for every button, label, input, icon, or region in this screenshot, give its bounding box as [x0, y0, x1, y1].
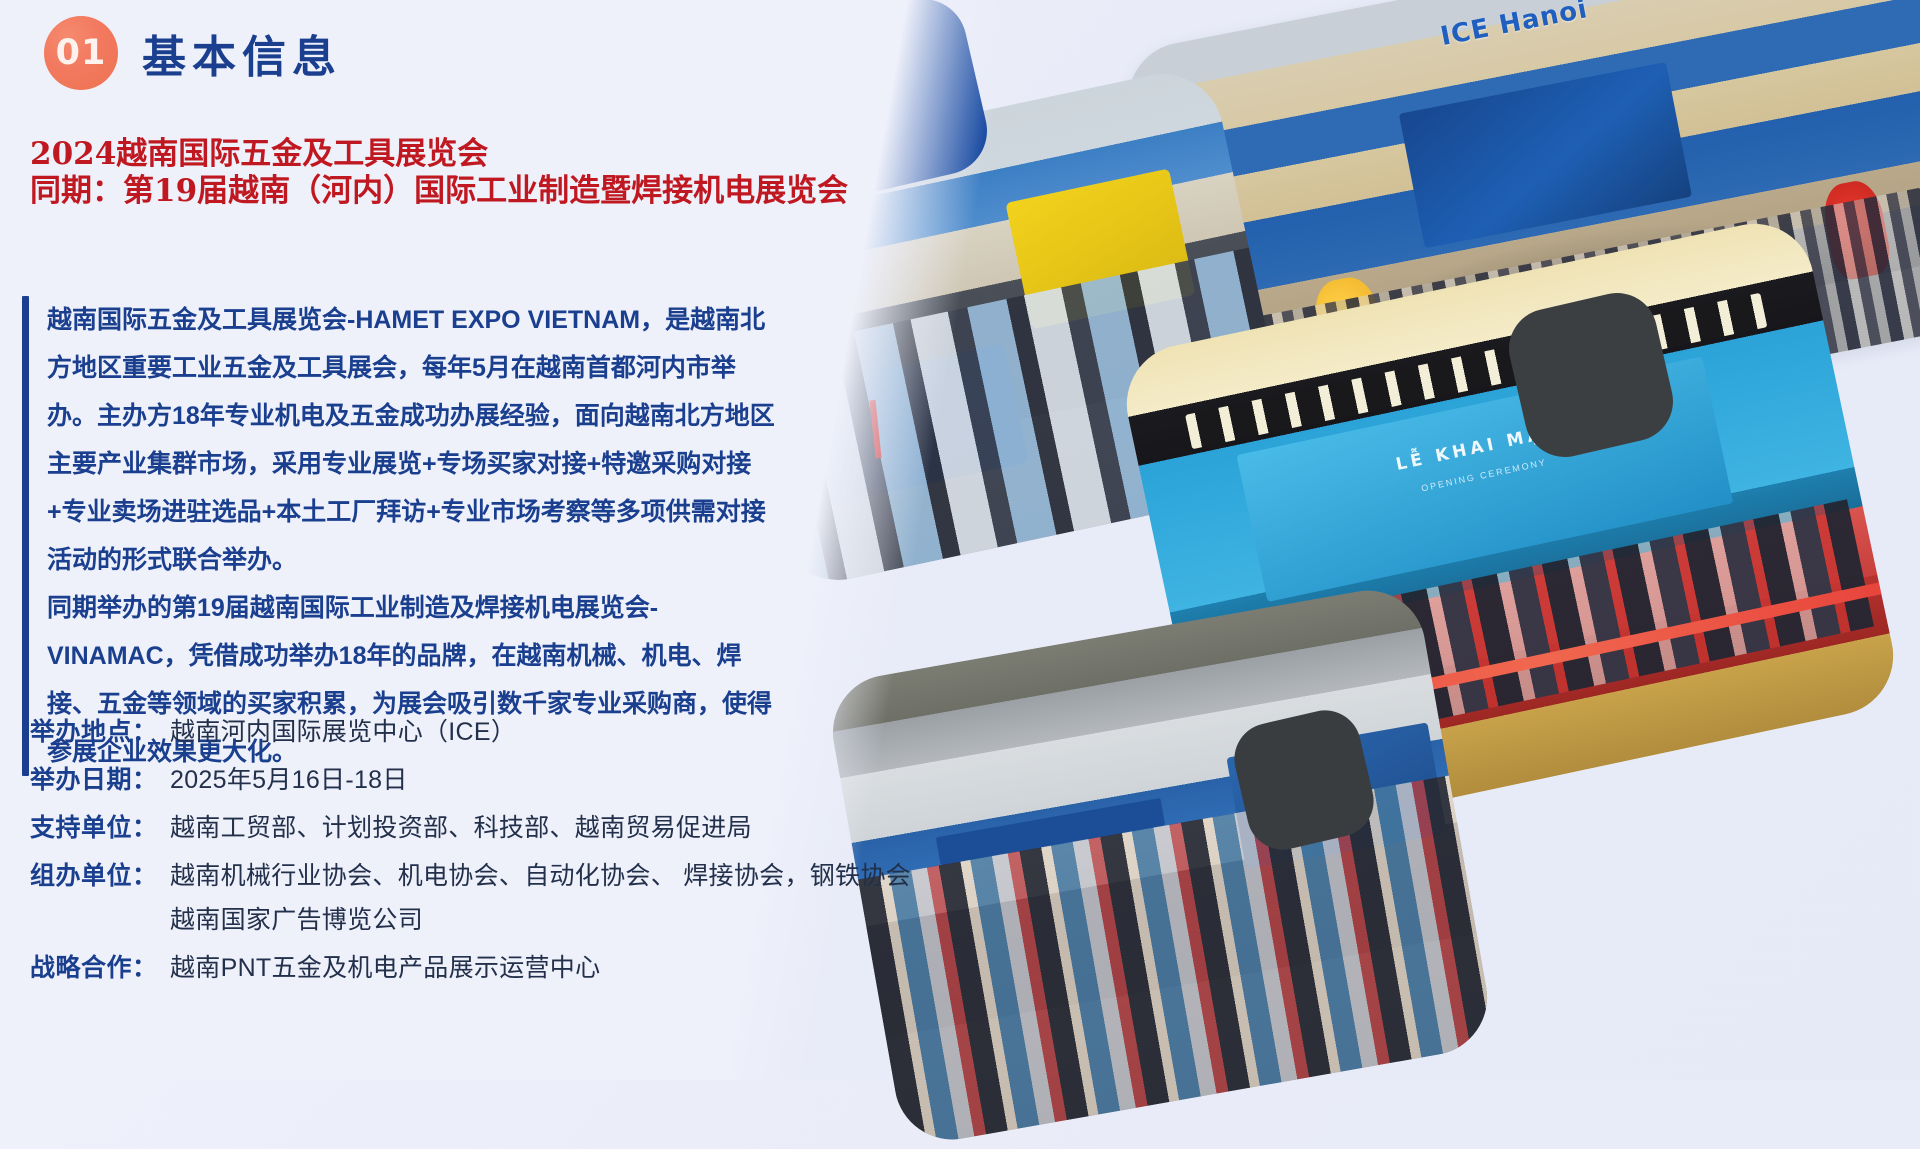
expo-title-line-2: 同期：第19届越南（河内）国际工业制造暨焊接机电展览会 [30, 173, 848, 210]
slide-root: ICE Hanoi LỄ KHAI MẠC OPENING CEREMONY [0, 0, 1920, 1080]
crowd-scene [824, 581, 1496, 1148]
detail-row-supporters: 支持单位： 越南工贸部、计划投资部、科技部、越南贸易促进局 [30, 808, 911, 844]
detail-row-organizers: 组办单位： 越南机械行业协会、机电协会、自动化协会、 焊接协会，钢铁协会 [30, 856, 911, 892]
crowd-people [858, 776, 1496, 1149]
description-text: 越南国际五金及工具展览会-HAMET EXPO VIETNAM，是越南北方地区重… [47, 296, 777, 776]
ice-hanoi-roof-sign: ICE Hanoi [1438, 0, 1590, 52]
detail-label-strategic-partner: 战略合作： [30, 948, 170, 984]
page-title: 基本信息 [142, 21, 342, 85]
photo-collage: ICE Hanoi LỄ KHAI MẠC OPENING CEREMONY [920, 0, 1920, 1080]
detail-row-venue: 举办地点： 越南河内国际展览中心（ICE） [30, 712, 911, 748]
detail-label-venue: 举办地点： [30, 712, 170, 748]
detail-value-organizers-continued: 越南国家广告博览公司 [170, 900, 423, 936]
detail-label-date: 举办日期： [30, 760, 170, 796]
detail-value-organizers: 越南机械行业协会、机电协会、自动化协会、 焊接协会，钢铁协会 [170, 856, 911, 892]
detail-list: 举办地点： 越南河内国际展览中心（ICE） 举办日期： 2025年5月16日-1… [30, 712, 911, 996]
exhibition-hall-crowd-photo [824, 581, 1496, 1148]
description-block: 越南国际五金及工具展览会-HAMET EXPO VIETNAM，是越南北方地区重… [22, 296, 777, 776]
detail-label-organizers: 组办单位： [30, 856, 170, 892]
section-header: 01 基本信息 [44, 16, 342, 90]
expo-title-line-1: 2024越南国际五金及工具展览会 [30, 136, 848, 173]
detail-row-organizers-continued: 越南国家广告博览公司 [30, 900, 911, 936]
detail-label-supporters: 支持单位： [30, 808, 170, 844]
accent-bar [22, 296, 29, 776]
detail-value-strategic-partner: 越南PNT五金及机电产品展示运营中心 [170, 948, 600, 984]
section-number-badge: 01 [44, 16, 118, 90]
detail-value-date: 2025年5月16日-18日 [170, 760, 408, 796]
detail-value-supporters: 越南工贸部、计划投资部、科技部、越南贸易促进局 [170, 808, 752, 844]
description-paragraph-1: 越南国际五金及工具展览会-HAMET EXPO VIETNAM，是越南北方地区重… [47, 296, 777, 584]
detail-row-date: 举办日期： 2025年5月16日-18日 [30, 760, 911, 796]
entrance-banner [1399, 62, 1692, 249]
detail-row-strategic-partner: 战略合作： 越南PNT五金及机电产品展示运营中心 [30, 948, 911, 984]
detail-value-venue: 越南河内国际展览中心（ICE） [170, 712, 516, 748]
expo-title-block: 2024越南国际五金及工具展览会 同期：第19届越南（河内）国际工业制造暨焊接机… [30, 136, 848, 209]
